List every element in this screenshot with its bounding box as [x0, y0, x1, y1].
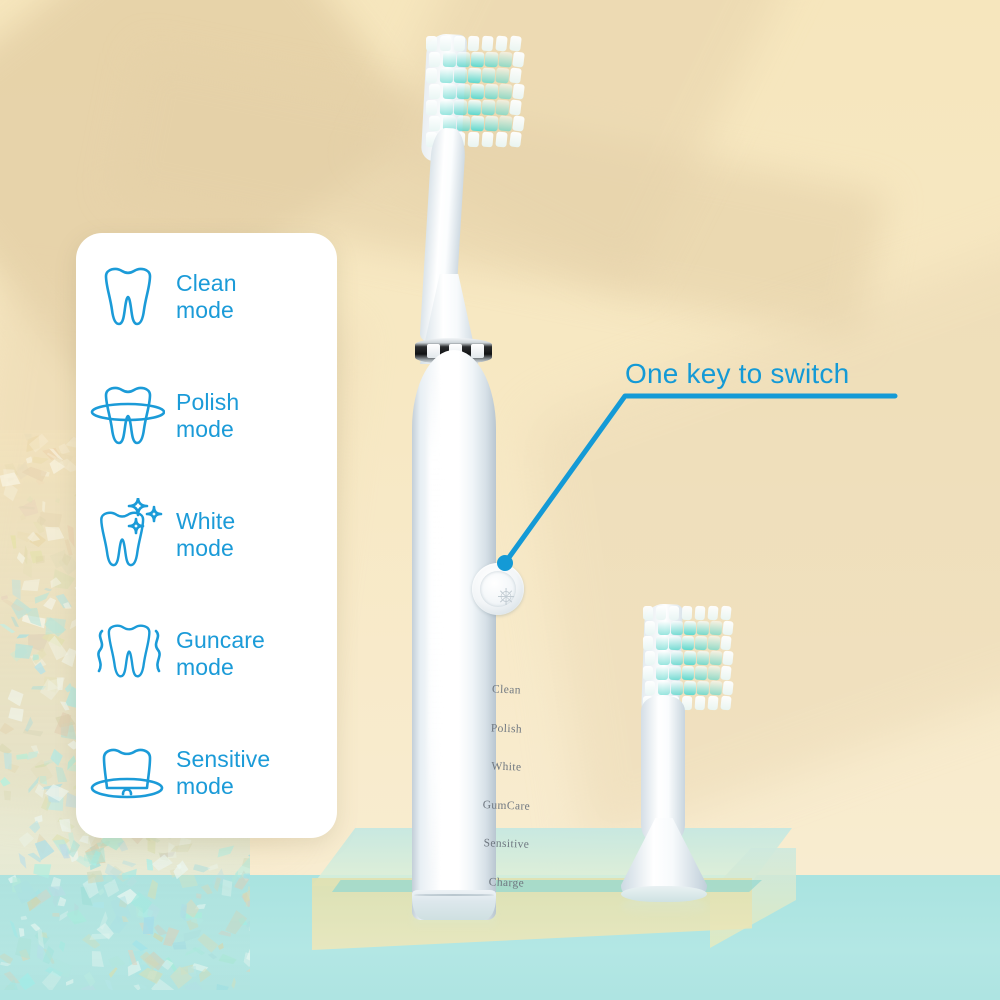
mode-label-line1: Polish	[176, 389, 239, 416]
mode-label-line2: mode	[176, 654, 265, 681]
mode-label: Whitemode	[176, 508, 235, 562]
tooth-ring-icon	[76, 379, 176, 453]
tooth-gum-icon	[76, 736, 176, 810]
mode-row-guncare[interactable]: Guncaremode	[76, 604, 337, 704]
mode-label-line2: mode	[176, 773, 270, 800]
tooth-sparkle-icon	[76, 498, 176, 572]
callout-leader-line	[480, 388, 900, 588]
mode-label-line1: Guncare	[176, 627, 265, 654]
handle-label-polish: Polish	[457, 720, 554, 762]
mode-label: Polishmode	[176, 389, 239, 443]
callout-label: One key to switch	[625, 358, 849, 390]
handle-label-white: White	[457, 758, 554, 800]
tooth-icon	[76, 260, 176, 334]
mode-label-line1: White	[176, 508, 235, 535]
mode-label-line2: mode	[176, 297, 237, 324]
mode-label: Guncaremode	[176, 627, 265, 681]
mode-label-line2: mode	[176, 416, 239, 443]
replacement-brush-head	[615, 600, 745, 910]
tooth-vibration-icon	[76, 617, 176, 691]
handle-label-sensitive: Sensitive	[457, 835, 554, 877]
mode-row-sensitive[interactable]: Sensitivemode	[76, 723, 337, 823]
handle-highlight	[428, 368, 441, 888]
spare-flare	[621, 818, 707, 896]
mode-row-clean[interactable]: Cleanmode	[76, 247, 337, 347]
mode-label: Cleanmode	[176, 270, 237, 324]
mode-row-white[interactable]: Whitemode	[76, 485, 337, 585]
mode-list-card: CleanmodePolishmodeWhitemodeGuncaremodeS…	[76, 233, 337, 838]
mode-label-line1: Clean	[176, 270, 237, 297]
spare-foot	[621, 886, 707, 902]
mode-row-polish[interactable]: Polishmode	[76, 366, 337, 466]
mode-label-line1: Sensitive	[176, 746, 270, 773]
mode-label-line2: mode	[176, 535, 235, 562]
handle-label-charge: Charge	[457, 874, 554, 916]
product-scene: ⎈ CleanPolishWhiteGumCareSensitiveCharge…	[0, 0, 1000, 1000]
handle-label-gumcare: GumCare	[457, 797, 554, 839]
handle-label-clean: Clean	[457, 681, 554, 723]
handle-mode-labels: CleanPolishWhiteGumCareSensitiveCharge	[458, 683, 554, 914]
mode-label: Sensitivemode	[176, 746, 270, 800]
